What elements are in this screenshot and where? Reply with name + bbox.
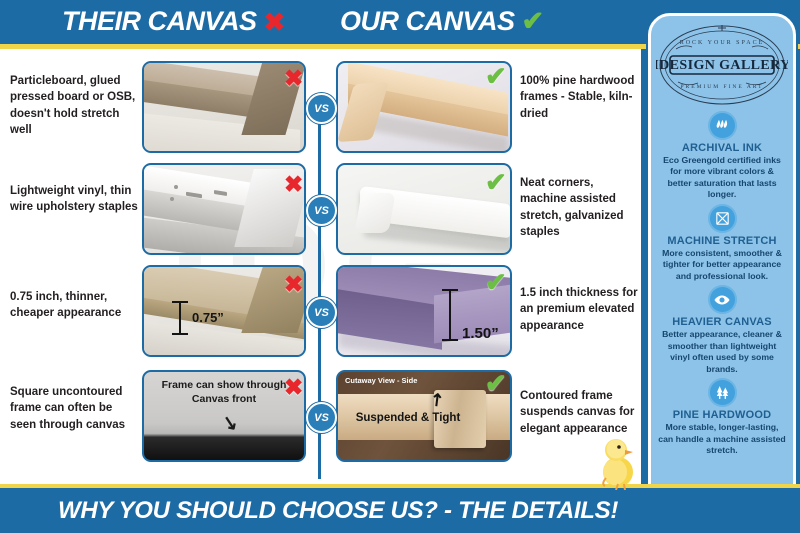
our-canvas-label: OUR CANVAS [340,6,515,37]
vs-badge: VS [306,195,337,226]
feature-body: Better appearance, cleaner & smoother th… [658,329,786,375]
pine-trees-icon [708,378,737,407]
their-canvas-heading: THEIR CANVAS ✖ [62,6,285,37]
their-staples-photo [142,163,306,255]
photo-tag: Cutaway View - Side [345,376,417,385]
our-feature-text: 1.5 inch thickness for an premium elevat… [520,285,638,334]
brand-logo: IDESIGN GALLERY ROCK YOUR SPACE PREMIUM … [656,22,788,108]
ink-drops-icon [708,111,737,140]
feature-title: HEAVIER CANVAS [658,316,786,328]
cross-icon: ✖ [284,173,303,196]
comparison-row: Particleboard, glued pressed board or OS… [0,57,641,157]
footer-text: WHY YOU SHOULD CHOOSE US? - THE DETAILS! [58,497,618,525]
vs-badge: VS [306,402,337,433]
our-feature-text: Contoured frame suspends canvas for eleg… [520,388,638,437]
their-feature-text: Lightweight vinyl, thin wire upholstery … [10,183,138,216]
feature-body: More consistent, smoother & tighter for … [658,248,786,282]
feature-archival-ink: ARCHIVAL INK Eco Greengold certified ink… [651,111,793,201]
their-feature-text: 0.75 inch, thinner, cheaper appearance [10,289,138,322]
measure-label: 1.50” [462,325,499,342]
feature-body: Eco Greengold certified inks for more vi… [658,155,786,201]
cross-icon: ✖ [284,67,303,90]
logo-tagline-top: ROCK YOUR SPACE [680,40,765,46]
cross-icon: ✖ [264,9,285,35]
their-frame-photo [142,61,306,153]
check-icon: ✔ [485,169,507,195]
their-cutaway-photo: Frame can show through Canvas front ↘ [142,370,306,462]
our-feature-text: 100% pine hardwood frames - Stable, kiln… [520,73,638,122]
photo-caption: Frame can show through Canvas front [144,378,304,406]
feature-machine-stretch: MACHINE STRETCH More consistent, smoothe… [651,204,793,282]
brand-sidebar: IDESIGN GALLERY ROCK YOUR SPACE PREMIUM … [648,13,796,526]
logo-tagline-bottom: PREMIUM FINE ART [680,84,763,90]
feature-title: ARCHIVAL INK [658,142,786,154]
check-icon: ✔ [485,370,507,396]
vs-badge: VS [306,93,337,124]
cross-icon: ✖ [284,273,303,296]
photo-caption: Suspended & Tight [338,412,478,424]
vs-badge: VS [306,297,337,328]
measure-label: 0.75” [192,310,224,325]
their-canvas-label: THEIR CANVAS [62,6,257,37]
down-arrow-icon: ↘ [220,411,240,437]
feature-title: MACHINE STRETCH [658,235,786,247]
comparison-row: 0.75 inch, thinner, cheaper appearance 0… [0,261,641,361]
comparison-row: Square uncontoured frame can often be se… [0,366,641,466]
check-icon: ✔ [485,63,507,89]
our-canvas-heading: OUR CANVAS ✔ [340,6,544,37]
our-feature-text: Neat corners, machine assisted stretch, … [520,175,638,240]
duckling-mascot [594,434,640,490]
feature-pine-hardwood: PINE HARDWOOD More stable, longer-lastin… [651,378,793,456]
comparison-row: Lightweight vinyl, thin wire upholstery … [0,159,641,259]
logo-name: IDESIGN GALLERY [656,58,788,73]
their-feature-text: Particleboard, glued pressed board or OS… [10,73,138,138]
comparison-card: IDG Particleboard, glued pressed board o… [0,49,641,484]
footer-bar: WHY YOU SHOULD CHOOSE US? - THE DETAILS! [0,488,800,533]
feature-body: More stable, longer-lasting, can handle … [658,422,786,456]
check-icon: ✔ [485,269,507,295]
feature-title: PINE HARDWOOD [658,409,786,421]
their-feature-text: Square uncontoured frame can often be se… [10,384,138,433]
infographic-root: THEIR CANVAS ✖ OUR CANVAS ✔ IDG Particle… [0,0,800,533]
check-icon: ✔ [522,8,544,35]
their-thickness-photo: 0.75” [142,265,306,357]
feature-heavier-canvas: HEAVIER CANVAS Better appearance, cleane… [651,285,793,375]
cross-icon: ✖ [284,376,303,399]
stretch-frame-icon [708,204,737,233]
eye-icon [708,285,737,314]
